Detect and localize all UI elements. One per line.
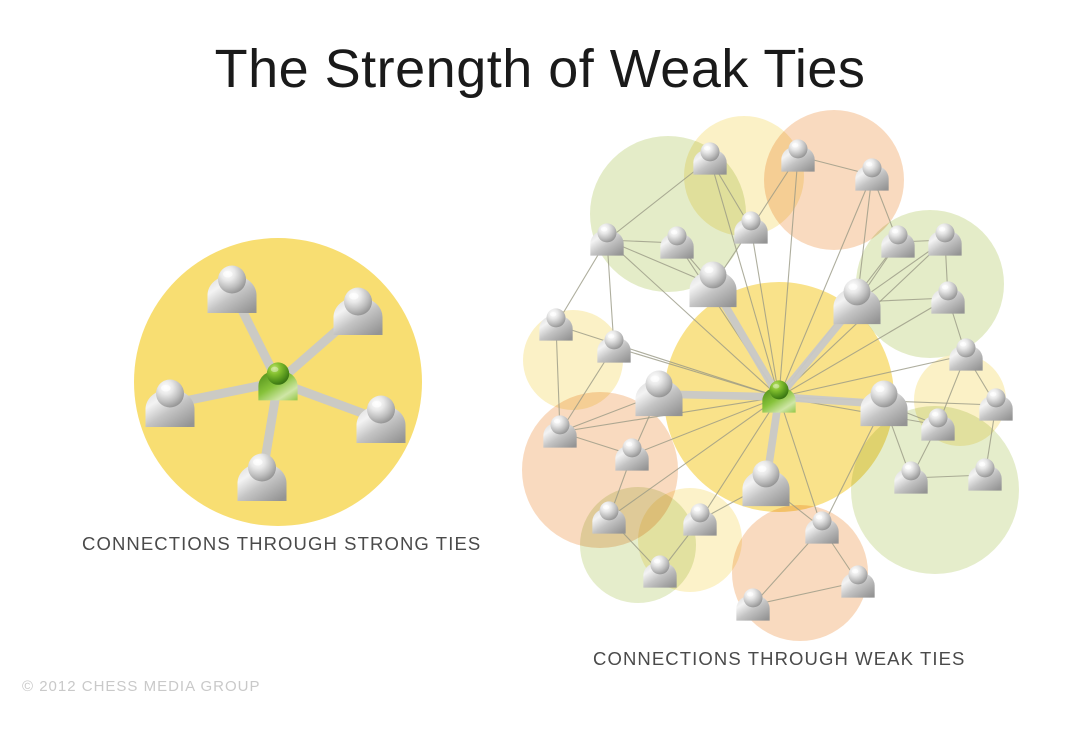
person-head-highlight: [601, 227, 607, 232]
person-head-highlight: [939, 227, 945, 232]
person-head: [218, 266, 246, 294]
person-head-highlight: [550, 312, 556, 317]
person-head: [650, 555, 669, 574]
person-head-highlight: [654, 559, 660, 564]
person-head-highlight: [253, 459, 263, 466]
person-head-highlight: [608, 334, 614, 339]
copyright-notice: © 2012 CHESS MEDIA GROUP: [22, 678, 260, 695]
person-head: [848, 565, 867, 584]
person-head: [871, 380, 898, 407]
person-head: [700, 261, 727, 288]
person-head: [753, 460, 780, 487]
caption-strong-ties: CONNECTIONS THROUGH STRONG TIES: [82, 533, 481, 555]
person-head: [550, 415, 569, 434]
person-head-highlight: [603, 505, 609, 510]
person-head: [344, 288, 372, 316]
person-head: [928, 408, 947, 427]
person-head-highlight: [650, 376, 659, 382]
person-head: [812, 511, 831, 530]
person-head: [888, 225, 907, 244]
person-head: [769, 380, 788, 399]
person-head: [597, 223, 616, 242]
person-head-highlight: [349, 293, 359, 300]
person-head: [935, 223, 954, 242]
person-head-highlight: [161, 385, 171, 392]
person-head-highlight: [271, 367, 279, 372]
person-head-highlight: [942, 285, 948, 290]
person-head: [862, 158, 881, 177]
person-head-highlight: [905, 465, 911, 470]
person-head-highlight: [848, 284, 857, 290]
person-head-highlight: [223, 271, 233, 278]
person-head-highlight: [554, 419, 560, 424]
person-head: [975, 458, 994, 477]
person-head-highlight: [932, 412, 938, 417]
person-head-highlight: [866, 162, 872, 167]
person-head-highlight: [704, 146, 710, 151]
person-head-highlight: [671, 230, 677, 235]
person-head: [741, 211, 760, 230]
person-head: [267, 362, 289, 384]
person-head-highlight: [694, 507, 700, 512]
person-head-highlight: [892, 229, 898, 234]
person-head-highlight: [990, 392, 996, 397]
person-head: [788, 139, 807, 158]
person-head: [248, 454, 276, 482]
person-head: [622, 438, 641, 457]
person-head: [844, 278, 871, 305]
person-head: [938, 281, 957, 300]
person-head-highlight: [757, 466, 766, 472]
person-head-highlight: [372, 401, 382, 408]
person-head-highlight: [979, 462, 985, 467]
person-head: [646, 370, 673, 397]
cluster-circle: [856, 210, 1004, 358]
person-head-highlight: [792, 143, 798, 148]
person-head-highlight: [626, 442, 632, 447]
caption-weak-ties: CONNECTIONS THROUGH WEAK TIES: [593, 648, 965, 670]
network-graph-svg: [0, 0, 1080, 733]
person-head: [367, 396, 395, 424]
diagram-canvas: The Strength of Weak Ties: [0, 0, 1080, 733]
page-title: The Strength of Weak Ties: [0, 38, 1080, 100]
person-head-highlight: [773, 384, 779, 389]
person-head: [743, 588, 762, 607]
person-head: [604, 330, 623, 349]
person-head-highlight: [875, 386, 884, 392]
person-head-highlight: [704, 267, 713, 273]
person-head-highlight: [816, 515, 822, 520]
person-head: [156, 380, 184, 408]
person-head: [546, 308, 565, 327]
person-head: [690, 503, 709, 522]
person-head-highlight: [747, 592, 753, 597]
person-head: [700, 142, 719, 161]
person-head-highlight: [745, 215, 751, 220]
person-head: [599, 501, 618, 520]
person-head-highlight: [852, 569, 858, 574]
person-head: [986, 388, 1005, 407]
person-head: [667, 226, 686, 245]
person-head-highlight: [960, 342, 966, 347]
person-head: [901, 461, 920, 480]
person-head: [956, 338, 975, 357]
